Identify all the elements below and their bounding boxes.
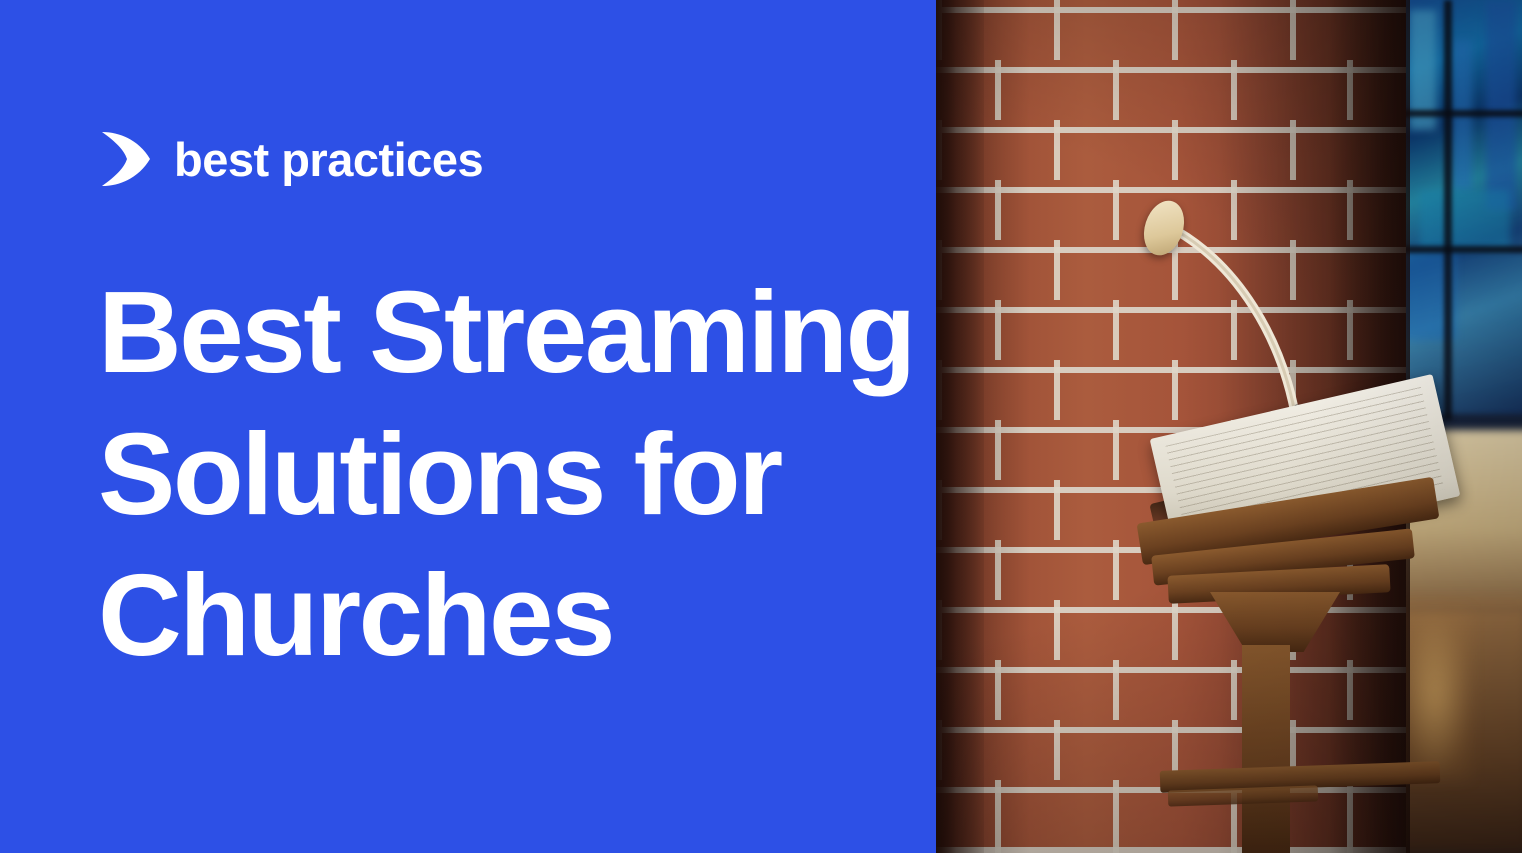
best-practices-banner: best practices Best Streaming Solutions … bbox=[0, 0, 1522, 853]
eyebrow-label: best practices bbox=[100, 128, 483, 190]
chevron-right-swoosh-glyph bbox=[100, 128, 152, 190]
lectern-post bbox=[1242, 645, 1290, 853]
photo-stage bbox=[936, 0, 1522, 853]
lectern-neck bbox=[1210, 592, 1340, 652]
chevron-right-swoosh-icon bbox=[100, 128, 152, 190]
lectern-group bbox=[936, 0, 1522, 853]
left-text-panel: best practices Best Streaming Solutions … bbox=[0, 0, 936, 853]
eyebrow-text: best practices bbox=[174, 136, 483, 183]
church-lectern-photo bbox=[936, 0, 1522, 853]
page-title: Best Streaming Solutions for Churches bbox=[98, 262, 918, 687]
